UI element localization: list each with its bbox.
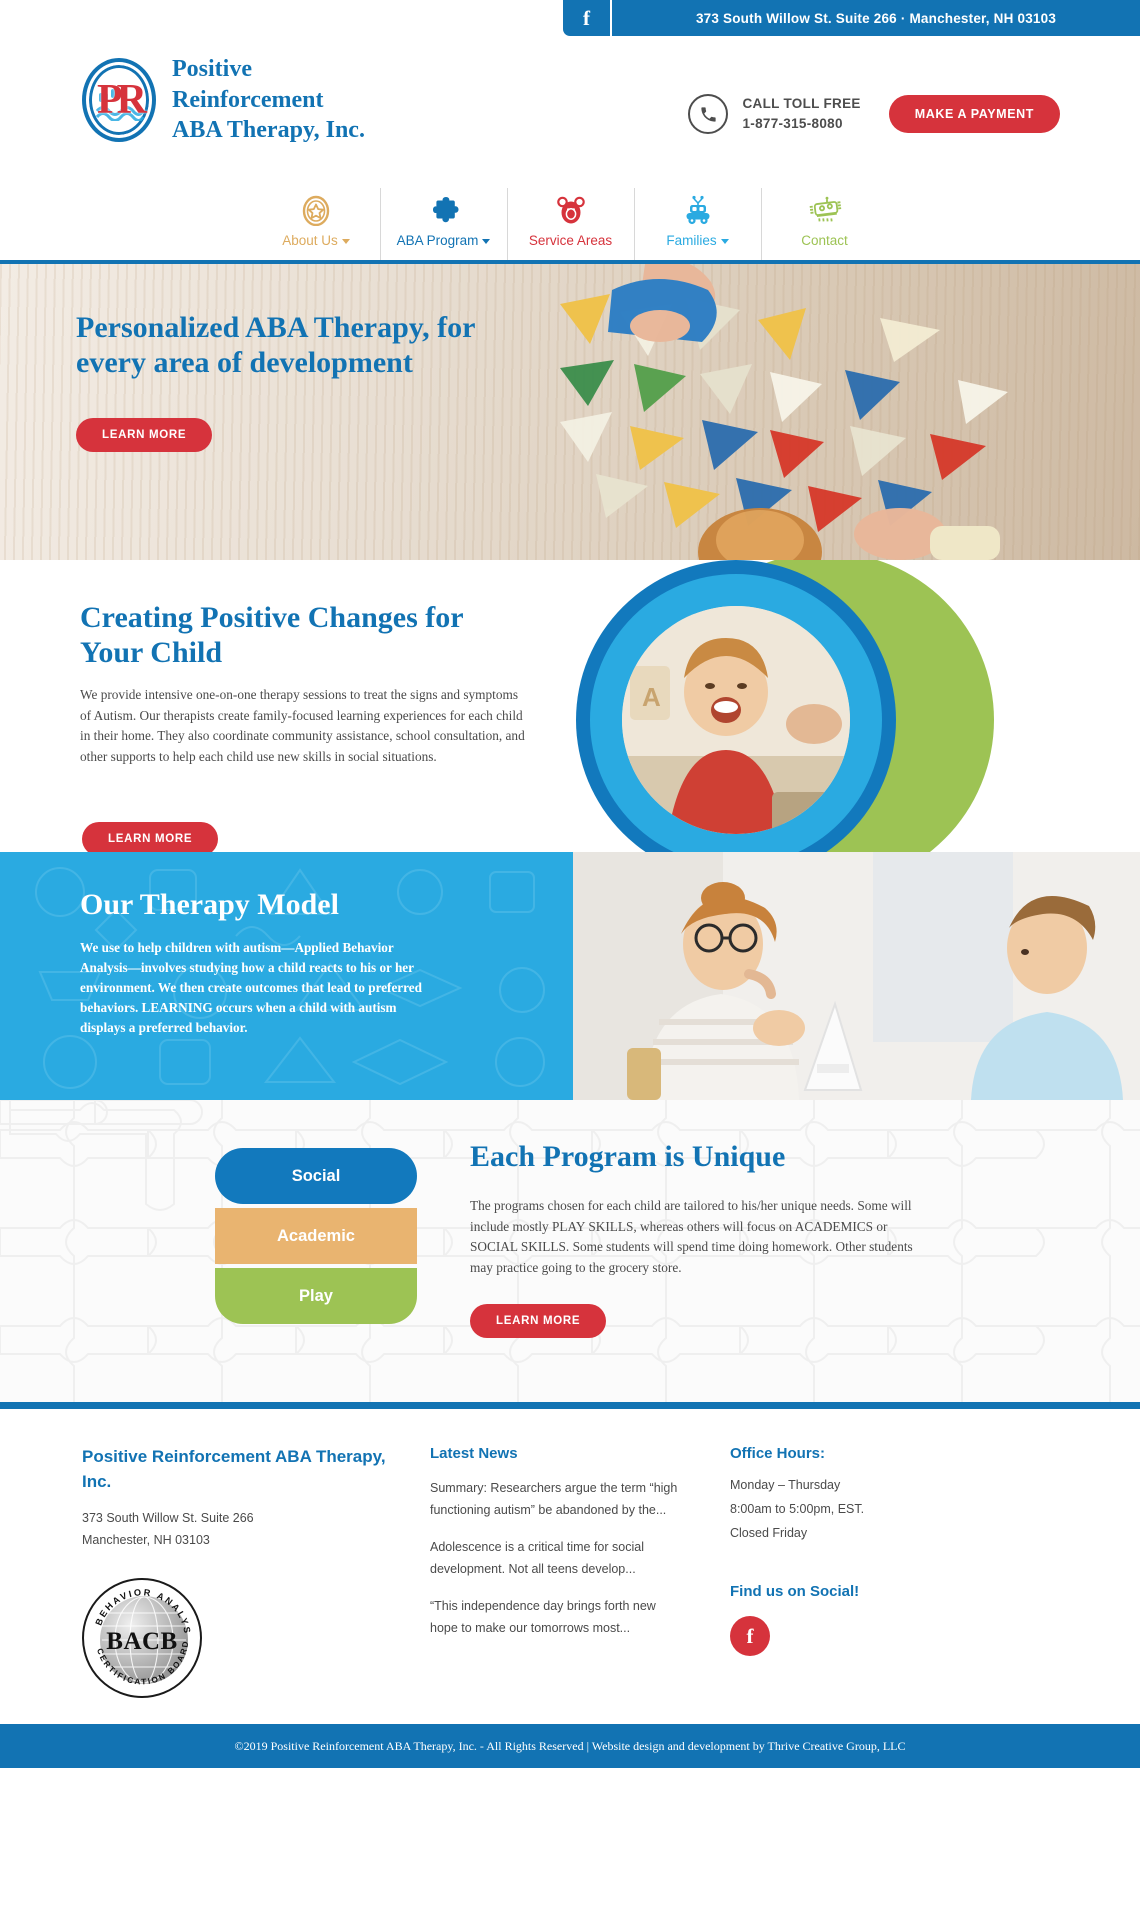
copyright-bar: ©2019 Positive Reinforcement ABA Therapy…: [0, 1724, 1140, 1768]
nav-label-aba-program: ABA Program: [381, 233, 507, 248]
logo-line-2: Reinforcement: [172, 85, 365, 116]
footer-company-column: Positive Reinforcement ABA Therapy, Inc.…: [82, 1445, 412, 1724]
changes-heading: Creating Positive Changes for Your Child: [80, 600, 520, 671]
top-bar: f 373 South Willow St. Suite 266 · Manch…: [0, 0, 1140, 36]
nav-item-aba-program[interactable]: ABA Program: [380, 188, 507, 260]
footer-news-column: Latest News Summary: Researchers argue t…: [430, 1445, 680, 1724]
program-paragraph: The programs chosen for each child are t…: [470, 1196, 920, 1279]
logo-wordmark: Positive Reinforcement ABA Therapy, Inc.: [172, 54, 365, 146]
footer-news-title: Latest News: [430, 1445, 680, 1462]
phone-icon: [688, 94, 728, 134]
footer-news-item[interactable]: “This independence day brings forth new …: [430, 1596, 680, 1639]
footer-address: 373 South Willow St. Suite 266 Mancheste…: [82, 1508, 412, 1552]
logo-line-1: Positive: [172, 54, 365, 85]
program-tab-social[interactable]: Social: [215, 1148, 417, 1204]
puzzle-piece-icon: [381, 194, 507, 226]
child-photo: A: [622, 606, 850, 834]
nav-label-families: Families: [635, 233, 761, 248]
footer-hours-line: Closed Friday: [730, 1522, 990, 1546]
bacb-certification-logo: BEHAVIOR ANALYST CERTIFICATION BOARD BAC…: [82, 1578, 202, 1698]
footer-hours-title: Office Hours:: [730, 1445, 990, 1462]
nav-label-contact: Contact: [762, 233, 888, 248]
program-tab-academic[interactable]: Academic: [215, 1208, 417, 1264]
footer-hours-line: Monday – Thursday: [730, 1474, 990, 1498]
nav-item-service-areas[interactable]: Service Areas: [507, 188, 634, 260]
program-learn-more-button[interactable]: LEARN MORE: [470, 1304, 606, 1338]
footer-news-item[interactable]: Adolescence is a critical time for socia…: [430, 1537, 680, 1580]
nav-item-contact[interactable]: Contact: [761, 188, 888, 260]
top-bar-address: 373 South Willow St. Suite 266 · Manches…: [612, 0, 1140, 36]
call-label: CALL TOLL FREE: [742, 94, 860, 114]
medal-star-icon: [253, 194, 380, 226]
main-navigation: About Us ABA Program: [0, 184, 1140, 264]
footer-address-line-2: Manchester, NH 03103: [82, 1530, 412, 1552]
make-a-payment-button[interactable]: MAKE A PAYMENT: [889, 95, 1060, 133]
hero-banner: Personalized ABA Therapy, for every area…: [0, 264, 1140, 560]
facebook-icon[interactable]: f: [730, 1616, 770, 1656]
program-heading: Each Program is Unique: [470, 1140, 785, 1174]
program-tab-play[interactable]: Play: [215, 1268, 417, 1324]
nav-item-families[interactable]: Families: [634, 188, 761, 260]
footer-address-line-1: 373 South Willow St. Suite 266: [82, 1508, 412, 1530]
logo-mark-icon: PR: [82, 58, 156, 142]
changes-paragraph: We provide intensive one-on-one therapy …: [80, 685, 530, 768]
footer-news-item[interactable]: Summary: Researchers argue the term “hig…: [430, 1478, 680, 1521]
program-tabs: Social Academic Play: [215, 1148, 417, 1324]
chevron-down-icon: [342, 239, 350, 244]
changes-ring-graphic: A: [576, 560, 1140, 852]
phone-number[interactable]: 1-877-315-8080: [742, 114, 860, 134]
footer-company-name: Positive Reinforcement ABA Therapy, Inc.: [82, 1445, 412, 1494]
hero-learn-more-button[interactable]: LEARN MORE: [76, 418, 212, 452]
each-program-unique-section: Social Academic Play Each Program is Uni…: [0, 1100, 1140, 1402]
hero-child-bottom: [698, 508, 1000, 560]
therapy-model-paragraph: We use to help children with autism—Appl…: [80, 938, 440, 1038]
nav-label-about-us: About Us: [253, 233, 380, 248]
site-footer: Positive Reinforcement ABA Therapy, Inc.…: [0, 1409, 1140, 1724]
robot-icon: [762, 194, 888, 226]
bacb-wordmark: BACB: [84, 1628, 200, 1656]
footer-hours-list: Monday – Thursday 8:00am to 5:00pm, EST.…: [730, 1474, 990, 1545]
footer-hours-line: 8:00am to 5:00pm, EST.: [730, 1498, 990, 1522]
hero-tangram-illustration: [0, 264, 1140, 560]
therapy-model-text-panel: Our Therapy Model We use to help childre…: [0, 852, 573, 1100]
site-logo[interactable]: PR Positive Reinforcement ABA Therapy, I…: [82, 54, 365, 146]
footer-top-rule: [0, 1402, 1140, 1409]
facebook-icon[interactable]: f: [563, 0, 610, 36]
therapy-model-photo: [573, 852, 1140, 1100]
facebook-glyph: f: [583, 8, 590, 29]
hero-heading: Personalized ABA Therapy, for every area…: [76, 310, 476, 380]
svg-text:A: A: [642, 682, 661, 712]
footer-social-title: Find us on Social!: [730, 1583, 990, 1600]
logo-initials: PR: [82, 58, 156, 142]
header-contact: CALL TOLL FREE 1-877-315-8080 MAKE A PAY…: [688, 94, 1060, 134]
site-header: PR Positive Reinforcement ABA Therapy, I…: [0, 36, 1140, 184]
hero-child-top: [608, 264, 717, 342]
chevron-down-icon: [482, 239, 490, 244]
creating-positive-changes-section: Creating Positive Changes for Your Child…: [0, 560, 1140, 852]
therapy-model-section: Our Therapy Model We use to help childre…: [0, 852, 1140, 1100]
footer-hours-column: Office Hours: Monday – Thursday 8:00am t…: [730, 1445, 990, 1724]
therapy-model-heading: Our Therapy Model: [80, 888, 339, 922]
chevron-down-icon: [721, 239, 729, 244]
teddy-bear-icon: [508, 194, 634, 226]
nav-item-about-us[interactable]: About Us: [253, 188, 380, 260]
nav-label-service-areas: Service Areas: [508, 233, 634, 248]
changes-learn-more-button[interactable]: LEARN MORE: [82, 822, 218, 852]
logo-line-3: ABA Therapy, Inc.: [172, 115, 365, 146]
call-toll-free-block: CALL TOLL FREE 1-877-315-8080: [742, 94, 860, 133]
toy-car-icon: [635, 194, 761, 226]
